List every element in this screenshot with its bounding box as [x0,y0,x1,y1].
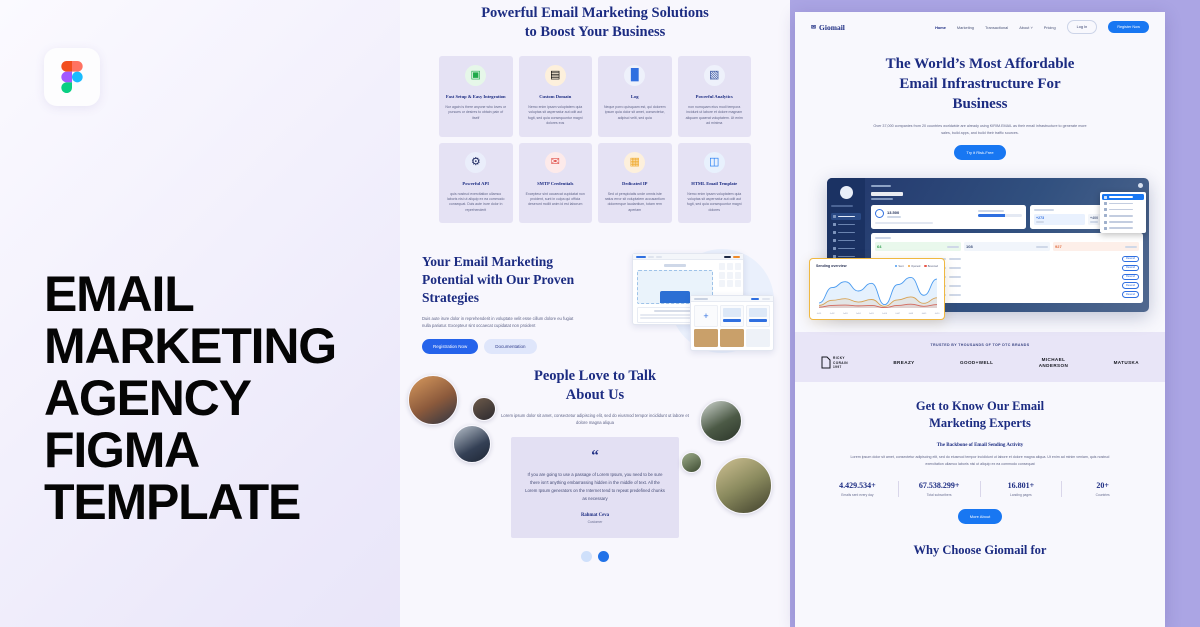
x-tick-label: Jul02 [830,313,836,315]
brands-row: RICKYCORAIN1997BREAZYGOOD+WELLMICHAELAND… [809,356,1151,369]
x-tick-label: Jul06 [882,313,888,315]
matuska-logo: MATUSKA [1114,360,1139,366]
about-body: Lorem ipsum dolor sit amet, consectetur … [845,454,1115,467]
folder-icon: ▤ [545,65,566,86]
hero-title: The World’s Most Affordable Email Infras… [823,54,1137,114]
testimonial-author: Rahmat Ceva [525,513,665,518]
feature-card: ▤Custom DomainNemo enim ipsam voluptatem… [519,56,593,137]
mail-inbox-icon: ✉ [545,152,566,173]
about-kicker: The Backbone of Email Sending Activity [817,443,1143,448]
x-tick-label: Jul07 [895,313,901,315]
features-heading: Powerful Email Marketing Solutions to Bo… [400,0,790,42]
feature-title: Custom Domain [525,94,587,100]
legend-label: Sent [898,265,903,268]
quote-icon: “ [525,450,665,462]
stat-item: 4.429.534+Emails sent every day [817,481,899,497]
testimonials-subtext: Lorem ipsum dolor sit amet, consectetur … [495,413,695,426]
brands-section: TRUSTED BY THOUSANDS OF TOP DTC BRANDS R… [795,332,1165,382]
carousel-pagination[interactable] [400,551,790,562]
dashboard-mockup: 13.500 [809,174,1151,326]
page-icon [821,356,831,369]
html-template-icon: ◫ [704,152,725,173]
stat-item: 16.801+Landing pages [981,481,1063,497]
feature-title: Fast Setup & Easy Integration [445,94,507,100]
brand-logo[interactable]: ✉ Giomail [811,23,845,32]
stat-label: Landing pages [981,493,1062,497]
nav-link-about[interactable]: About ˅ [1019,25,1033,30]
login-button[interactable]: Log In [1067,20,1098,34]
feature-title: Powerful API [445,181,507,187]
feature-body: non numquam eius modi tempora incidunt u… [684,105,746,127]
nav-link-pricing[interactable]: Pricing [1044,25,1056,30]
feature-body: Nemo enim ipsam voluptatem quia voluptas… [684,192,746,214]
middle-preview-panel: Powerful Email Marketing Solutions to Bo… [400,0,790,627]
register-now-button[interactable]: Register Now [1108,21,1149,33]
feature-body: Nemo enim ipsam voluptatem quia voluptas… [525,105,587,127]
why-choose-section: Why Choose Giomail for [795,524,1165,559]
feature-card: ▣Fast Setup & Easy IntegrationNor again … [439,56,513,137]
testimonials-heading: People Love to Talk About Us [400,367,790,405]
dashboard-sidebar-item[interactable] [831,221,861,228]
x-tick-label: Jul08 [908,313,914,315]
testimonial-quote: If you are going to use a passage of Lor… [525,471,665,503]
nav-links: HomeMarketingTransactionalAbout ˅Pricing… [935,20,1149,34]
x-tick-label: Jul09 [921,313,927,315]
stat-value: 67.538.299+ [899,481,980,490]
resend-button[interactable]: Resend [1122,256,1139,262]
goodwell-logo: GOOD+WELL [960,360,993,366]
feature-card: ◫HTML Email TemplateNemo enim ipsam volu… [678,143,752,224]
feature-card: ⚙Powerful APIquis nostrud exercitation u… [439,143,513,224]
feature-title: HTML Email Template [684,181,746,187]
hero-subtitle: Over 37,000 companies from 20 countries … [873,123,1088,136]
hero-cta-button[interactable]: Try it Risk-Free [954,145,1005,160]
promo-panel: EMAIL MARKETING AGENCY FIGMA TEMPLATE [0,0,400,627]
dashboard-dropdown-menu[interactable] [1100,192,1146,233]
ricky-corain-logo: RICKYCORAIN1997 [821,356,848,369]
registration-now-button[interactable]: Registration Now [422,339,478,354]
brand-name: Giomail [819,23,845,32]
builder-mockup-illustration: + [628,247,778,352]
right-preview-panel: ✉ Giomail HomeMarketingTransactionalAbou… [790,0,1200,627]
feature-card: █LogNeque porro quisquam est, qui dolore… [598,56,672,137]
x-tick-label: Jul04 [856,313,862,315]
feature-title: SMTP Credentials [525,181,587,187]
legend-label: Bounced [928,265,938,268]
avatar [681,452,702,473]
stats-row: 4.429.534+Emails sent every day67.538.29… [817,481,1143,497]
dashboard-sidebar-item[interactable] [831,237,861,244]
x-tick-label: Jul01 [817,313,823,315]
resend-button[interactable]: Resend [1122,282,1139,288]
envelope-icon: ✉ [811,24,816,31]
feature-body: Sed ut perspiciatis unde omnis iste natu… [604,192,666,214]
figma-logo-badge [44,48,100,106]
feature-body: quis nostrud exercitation ullamco labori… [445,192,507,214]
dropdown-item-autoresponder[interactable] [1102,200,1144,206]
dropdown-item-list[interactable] [1102,225,1144,231]
stat-label: Countries [1062,493,1143,497]
monitor-icon: ▣ [465,65,486,86]
carousel-dot-1[interactable] [581,551,592,562]
dropdown-item-automation[interactable] [1102,207,1144,213]
x-tick-label: Jul05 [869,313,875,315]
dashboard-sidebar-item[interactable] [831,213,861,220]
avatar [472,397,496,421]
strategy-title: Your Email Marketing Potential with Our … [422,241,582,307]
michael-anderson-logo: MICHAELANDERSON [1039,357,1069,369]
stat-value: 4.429.534+ [817,481,898,490]
promo-title: EMAIL MARKETING AGENCY FIGMA TEMPLATE [44,268,384,528]
legend-item: Bounced [924,265,938,268]
breazy-logo: BREAZY [893,360,914,366]
template-picker-window: + [690,295,774,351]
stat-item: 20+Countries [1062,481,1143,497]
chart-legend: SentOpenedBounced [895,265,938,268]
feature-title: Powerful Analytics [684,94,746,100]
testimonials-section: People Love to Talk About Us Lorem ipsum… [400,367,790,582]
stat-label: Total subscribers [899,493,980,497]
sending-overview-chart-card: Sending overview SentOpenedBounced Jul01… [809,258,945,320]
more-about-button[interactable]: More About [958,509,1002,524]
about-section: Get to Know Our Email Marketing Experts … [795,382,1165,524]
avatar [408,375,458,425]
brands-label: TRUSTED BY THOUSANDS OF TOP DTC BRANDS [809,343,1151,347]
why-choose-title: Why Choose Giomail for [795,542,1165,559]
hero-section: The World’s Most Affordable Email Infras… [795,42,1165,160]
website-mockup: ✉ Giomail HomeMarketingTransactionalAbou… [795,12,1165,627]
features-grid: ▣Fast Setup & Easy IntegrationNor again … [439,56,751,223]
nav-link-home[interactable]: Home [935,25,946,30]
analytics-window-icon: ▧ [704,65,725,86]
testimonial-card: “ If you are going to use a passage of L… [511,437,679,538]
legend-item: Opened [908,265,921,268]
strategy-body: Duis aute irure dolor in reprehenderit i… [422,316,574,329]
about-title: Get to Know Our Email Marketing Experts [817,398,1143,432]
stat-value: 16.801+ [981,481,1062,490]
bar-chart-icon: █ [624,65,645,86]
feature-card: ▦Dedicated IPSed ut perspiciatis unde om… [598,143,672,224]
legend-item: Sent [895,265,904,268]
site-navbar: ✉ Giomail HomeMarketingTransactionalAbou… [795,12,1165,42]
feature-body: Nor again is there anyone who loves or p… [445,105,507,121]
resend-button[interactable]: Resend [1122,291,1139,297]
avatar [453,425,491,463]
feature-body: Neque porro quisquam est, qui dolorem ip… [604,105,666,121]
figma-logo-icon [61,61,83,93]
dashboard-sidebar-item[interactable] [831,229,861,236]
resend-button[interactable]: Resend [1122,274,1139,280]
x-tick-label: Jul03 [843,313,849,315]
testimonial-role: Customer [525,520,665,524]
avatar [715,457,772,514]
feature-title: Dedicated IP [604,181,666,187]
feature-body: Excepteur sint occaecat cupidatat non pr… [525,192,587,208]
sending-overview-chart: Jul01Jul02Jul03Jul04Jul05Jul06Jul07Jul08… [816,271,940,315]
avatar [700,400,742,442]
feature-card: ▧Powerful Analyticsnon numquam eius modi… [678,56,752,137]
dashboard-sidebar-item[interactable] [831,245,861,252]
dedicated-ip-folder-icon: ▦ [624,152,645,173]
resend-button[interactable]: Resend [1122,265,1139,271]
x-tick-label: Jul10 [935,313,940,315]
chart-title: Sending overview [816,264,847,268]
stat-label: Emails sent every day [817,493,898,497]
feature-card: ✉SMTP CredentialsExcepteur sint occaecat… [519,143,593,224]
nav-link-marketing[interactable]: Marketing [957,25,974,30]
carousel-dot-2[interactable] [598,551,609,562]
stat-item: 67.538.299+Total subscribers [899,481,981,497]
documentation-button[interactable]: Documentation [484,339,536,354]
api-gear-icon: ⚙ [465,152,486,173]
feature-title: Log [604,94,666,100]
stat-value: 20+ [1062,481,1143,490]
nav-link-transactional[interactable]: Transactional [985,25,1008,30]
legend-label: Opened [911,265,920,268]
strategy-section: Your Email Marketing Potential with Our … [400,241,790,359]
